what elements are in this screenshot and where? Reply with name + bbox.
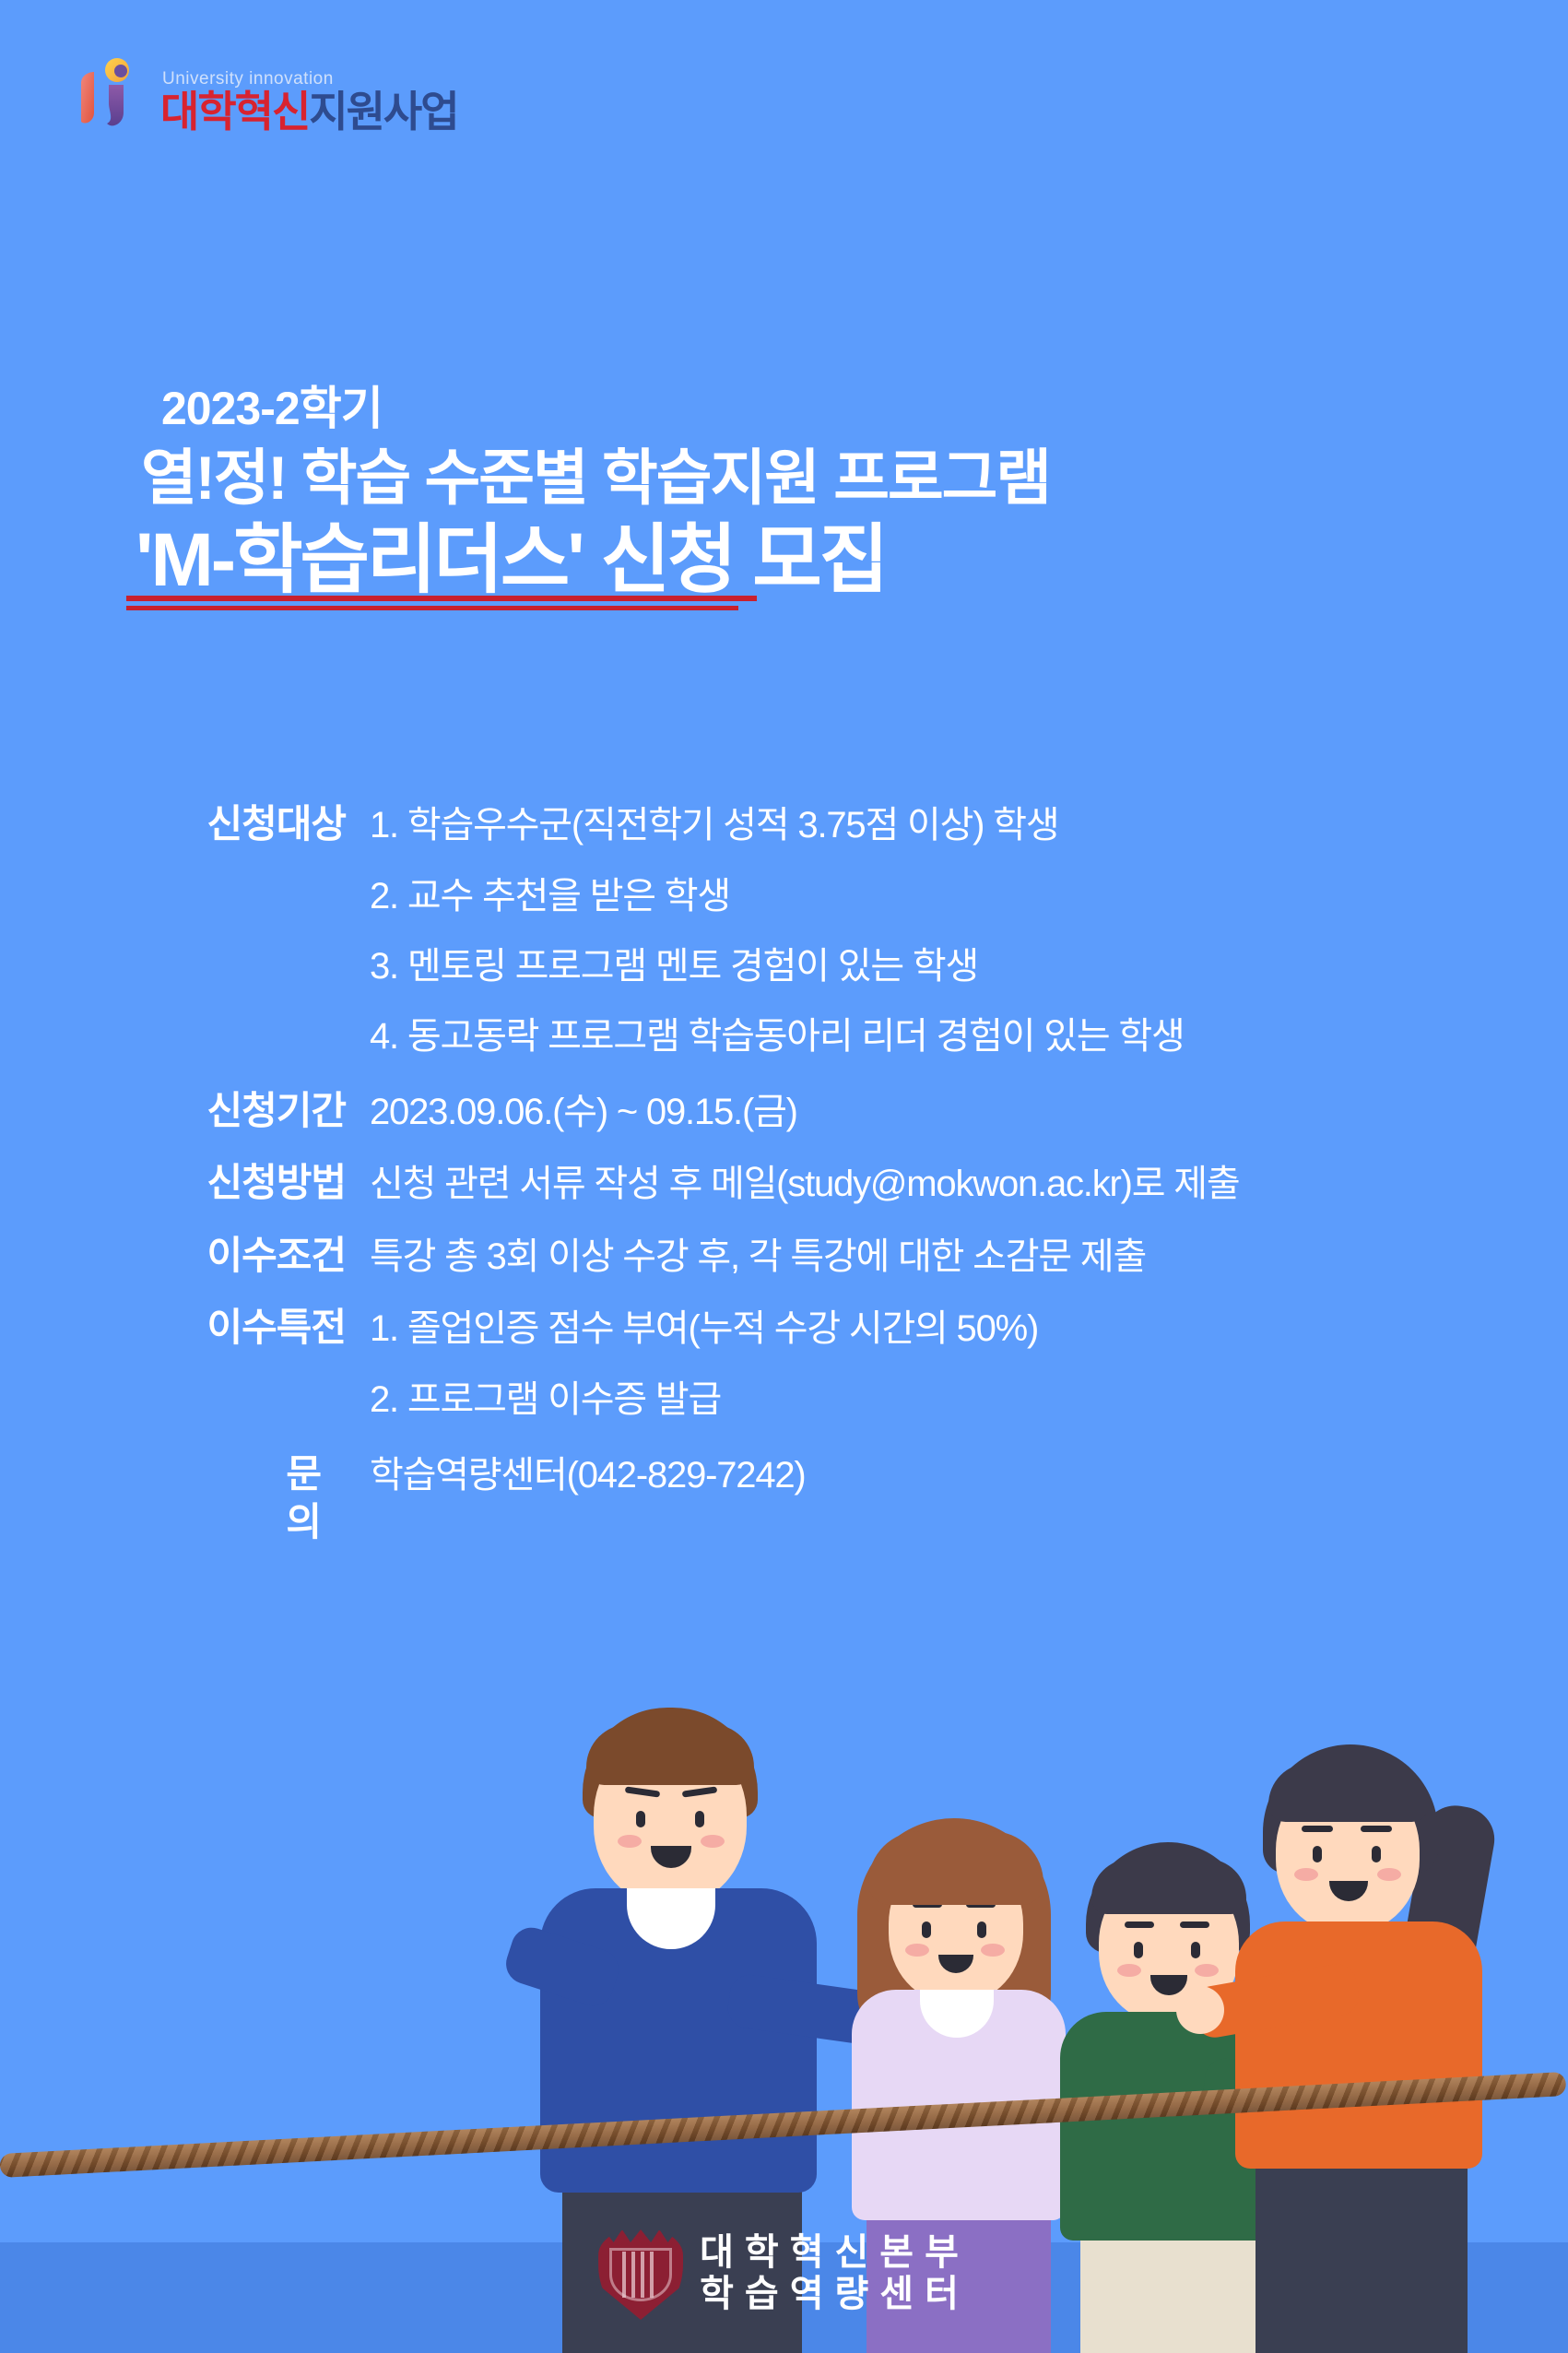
info-value-target-1: 1. 학습우수군(직전학기 성적 3.75점 이상) 학생 <box>370 802 1058 848</box>
person4-eye-right <box>1372 1846 1381 1862</box>
info-value-contact: 학습역량센터(042-829-7242) <box>370 1452 806 1498</box>
person4-cheek-right <box>1377 1868 1401 1881</box>
footer-branding: 대학혁신본부 학습역량센터 <box>0 2228 1568 2320</box>
info-value-benefit-1: 1. 졸업인증 점수 부여(누적 수강 시간의 50%) <box>370 1306 1038 1352</box>
person3-brow-left <box>1125 1921 1154 1928</box>
title-block: 2023-2학기 열!정! 학습 수준별 학습지원 프로그램 'M-학습리더스'… <box>161 383 1050 605</box>
info-row-method: 신청방법 신청 관련 서류 작성 후 메일(study@mokwon.ac.kr… <box>171 1159 1480 1208</box>
person2-mouth <box>938 1955 973 1973</box>
person1-cheek-right <box>701 1835 725 1848</box>
info-row-contact: 문 의 학습역량센터(042-829-7242) <box>171 1450 1480 1547</box>
person1-mouth <box>651 1846 691 1868</box>
info-row-benefit: 이수특전 1. 졸업인증 점수 부여(누적 수강 시간의 50%) <box>171 1304 1480 1353</box>
footer-line-1: 대학혁신본부 <box>700 2232 970 2274</box>
logo-mark-icon <box>72 55 151 135</box>
info-label-method: 신청방법 <box>171 1159 346 1208</box>
person3-cheek-left <box>1117 1964 1141 1977</box>
info-value-condition: 특강 총 3회 이상 수강 후, 각 특강에 대한 소감문 제출 <box>370 1234 1146 1280</box>
person3-mouth <box>1150 1975 1187 1995</box>
poster-root: University innovation 대학혁신지원사업 2023-2학기 … <box>0 0 1568 2353</box>
info-value-method: 신청 관련 서류 작성 후 메일(study@mokwon.ac.kr)로 제출 <box>370 1161 1239 1207</box>
info-label-condition: 이수조건 <box>171 1232 346 1281</box>
person1-cheek-left <box>618 1835 642 1848</box>
person4-eye-left <box>1313 1846 1322 1862</box>
headline-underline-secondary <box>126 606 738 610</box>
headline-line1: 열!정! 학습 수준별 학습지원 프로그램 <box>141 442 1050 514</box>
person1-fringe <box>586 1724 754 1785</box>
headline-line2-wrap: 'M-학습리더스' 신청 모집 <box>136 516 886 606</box>
person2-cheek-left <box>905 1944 929 1957</box>
logo-korean-red: 대학혁신 <box>160 88 309 136</box>
semester-label: 2023-2학기 <box>161 383 1050 436</box>
person4-brow-left <box>1302 1826 1333 1832</box>
info-value-target-3: 3. 멘토링 프로그램 멘토 경험이 있는 학생 <box>370 943 1480 989</box>
person2-eye-right <box>977 1921 986 1938</box>
person4-mouth <box>1329 1881 1368 1901</box>
info-label-period: 신청기간 <box>171 1087 346 1136</box>
logo-korean-blue: 지원사업 <box>309 88 457 136</box>
info-row-period: 신청기간 2023.09.06.(수) ~ 09.15.(금) <box>171 1087 1480 1136</box>
university-innovation-logo: University innovation 대학혁신지원사업 <box>72 55 458 135</box>
info-value-target-2: 2. 교수 추천을 받은 학생 <box>370 873 1480 919</box>
info-value-benefit-2: 2. 프로그램 이수증 발급 <box>370 1377 1480 1423</box>
person1-brow-right <box>682 1786 718 1797</box>
person4-hand <box>1176 1986 1224 2034</box>
info-label-contact: 문 의 <box>171 1450 346 1547</box>
footer-line-2: 학습역량센터 <box>700 2274 970 2315</box>
person2-hair-top <box>868 1831 1043 1905</box>
crest-ring <box>609 2248 672 2301</box>
info-value-period: 2023.09.06.(수) ~ 09.15.(금) <box>370 1089 797 1135</box>
person4-fringe <box>1268 1763 1429 1822</box>
logo-korean-text: 대학혁신지원사업 <box>160 90 458 133</box>
mokwon-university-crest-icon <box>598 2228 683 2320</box>
person3-eye-left <box>1134 1942 1143 1958</box>
person1-eye-left <box>636 1811 645 1827</box>
info-row-target: 신청대상 1. 학습우수군(직전학기 성적 3.75점 이상) 학생 <box>171 800 1480 849</box>
person2-eye-left <box>922 1921 931 1938</box>
person2-cheek-right <box>981 1944 1005 1957</box>
person1-brow-left <box>625 1786 661 1797</box>
headline-underline <box>126 596 757 601</box>
info-label-target: 신청대상 <box>171 800 346 849</box>
logo-text-block: University innovation 대학혁신지원사업 <box>160 70 458 133</box>
headline-line2: 'M-학습리더스' 신청 모집 <box>136 516 886 606</box>
logo-english-text: University innovation <box>162 70 458 88</box>
person1-eye-right <box>695 1811 704 1827</box>
person4-cheek-left <box>1294 1868 1318 1881</box>
person4-brow-right <box>1361 1826 1392 1832</box>
footer-text-block: 대학혁신본부 학습역량센터 <box>700 2232 970 2315</box>
info-row-condition: 이수조건 특강 총 3회 이상 수강 후, 각 특강에 대한 소감문 제출 <box>171 1232 1480 1281</box>
info-label-benefit: 이수특전 <box>171 1304 346 1353</box>
person4-torso <box>1235 1921 1482 2169</box>
info-list: 신청대상 1. 학습우수군(직전학기 성적 3.75점 이상) 학생 2. 교수… <box>171 800 1480 1571</box>
info-value-target-4: 4. 동고동락 프로그램 학습동아리 리더 경험이 있는 학생 <box>370 1013 1480 1059</box>
